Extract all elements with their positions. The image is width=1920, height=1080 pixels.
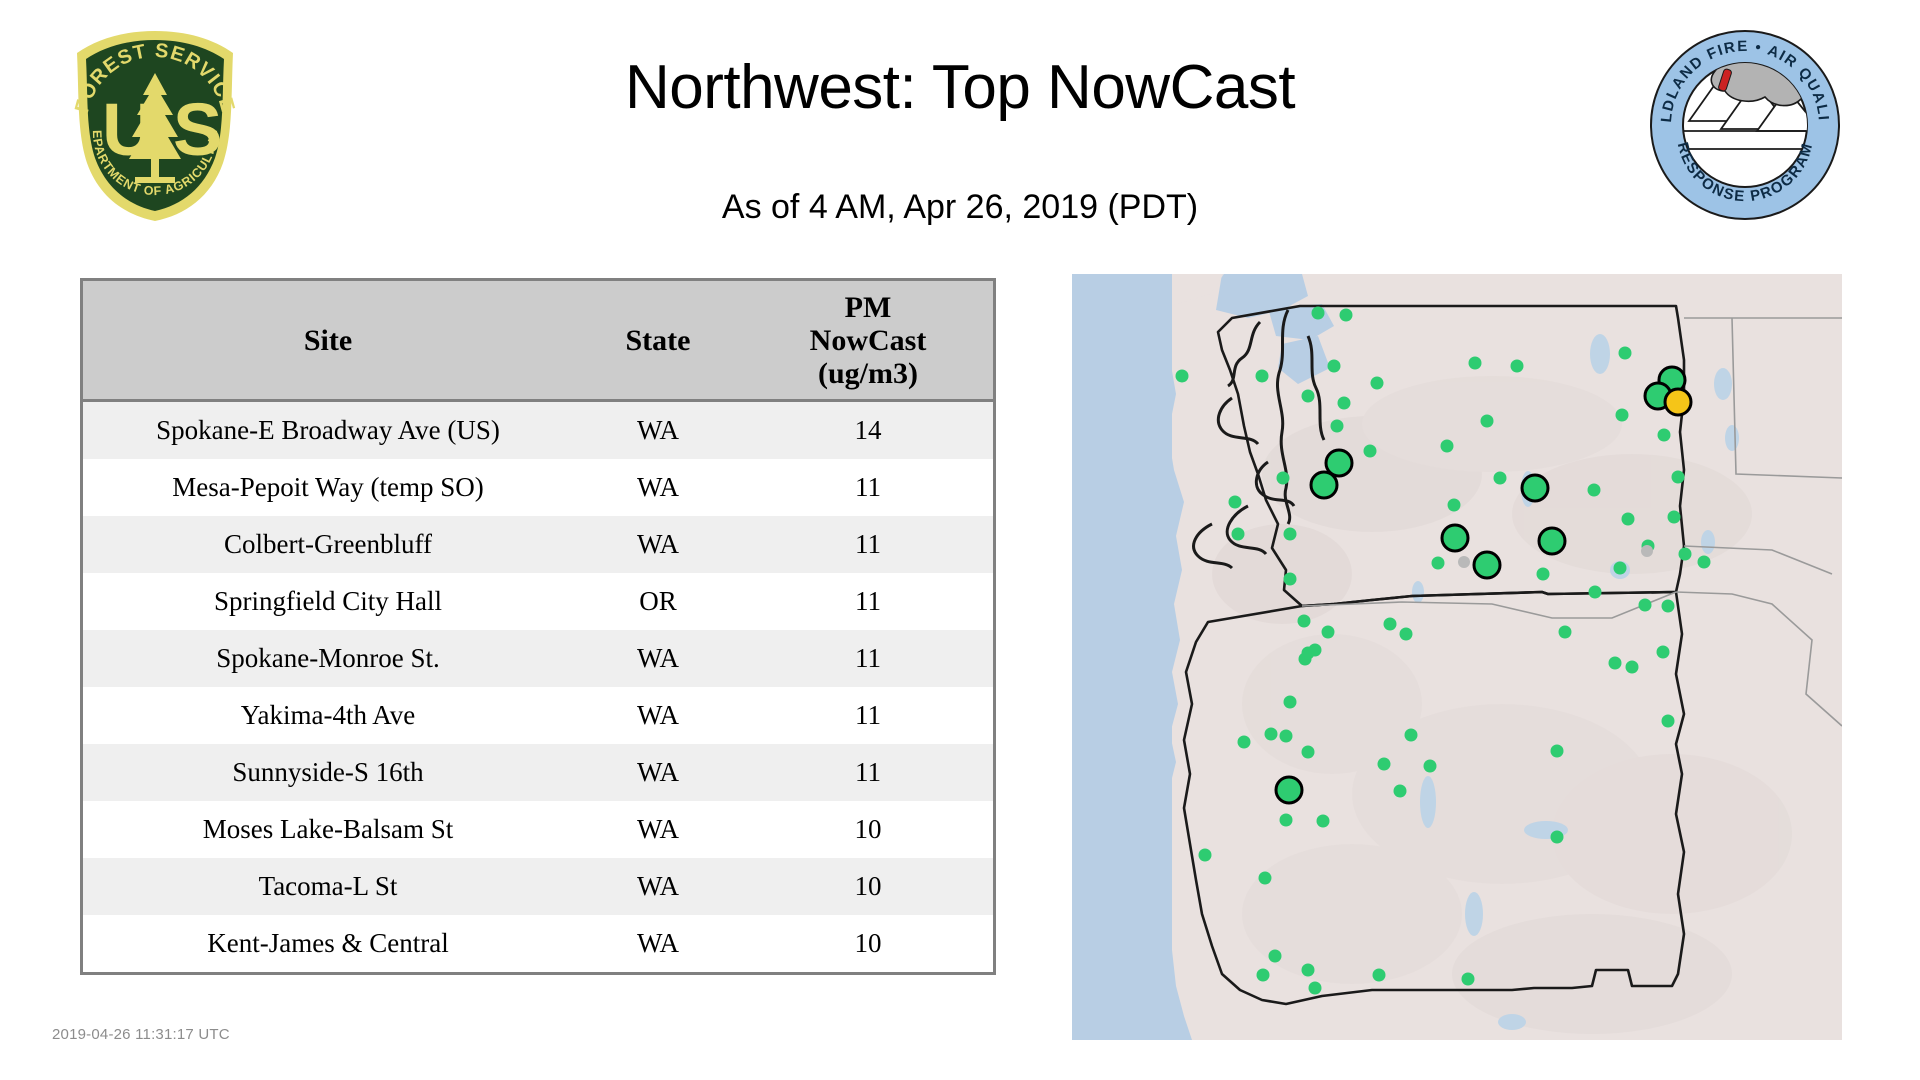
monitor-marker-small[interactable] — [1317, 815, 1330, 828]
pm-cell: 11 — [743, 744, 993, 801]
monitor-marker-small[interactable] — [1302, 964, 1315, 977]
table-row[interactable]: Mesa-Pepoit Way (temp SO)WA11 — [83, 459, 993, 516]
column-header-pm-line1: PM — [743, 291, 993, 324]
monitor-marker-small[interactable] — [1400, 628, 1413, 641]
monitor-marker-small[interactable] — [1373, 969, 1386, 982]
state-cell: WA — [573, 744, 743, 801]
site-cell: Sunnyside-S 16th — [83, 744, 573, 801]
site-cell: Springfield City Hall — [83, 573, 573, 630]
monitor-marker-small[interactable] — [1378, 758, 1391, 771]
monitor-marker-small[interactable] — [1481, 415, 1494, 428]
monitor-marker-small[interactable] — [1494, 472, 1507, 485]
monitor-marker-small[interactable] — [1394, 785, 1407, 798]
monitor-marker-small[interactable] — [1340, 309, 1353, 322]
monitor-marker-small[interactable] — [1609, 657, 1622, 670]
monitor-marker-small[interactable] — [1284, 528, 1297, 541]
pm-cell: 11 — [743, 687, 993, 744]
table-header-row: Site State PM NowCast (ug/m3) — [83, 281, 993, 401]
table-row[interactable]: Colbert-GreenbluffWA11 — [83, 516, 993, 573]
table-row[interactable]: Springfield City HallOR11 — [83, 573, 993, 630]
monitor-marker-small[interactable] — [1537, 568, 1550, 581]
site-cell: Mesa-Pepoit Way (temp SO) — [83, 459, 573, 516]
monitor-marker-small[interactable] — [1679, 548, 1692, 561]
monitor-marker-small[interactable] — [1658, 429, 1671, 442]
monitor-marker-highlighted[interactable]: Sunnyside-S 16th — [1474, 552, 1500, 578]
monitor-marker-highlighted[interactable]: Yakima-4th Ave — [1442, 525, 1468, 551]
monitor-marker-highlighted[interactable]: Mesa-Pepoit Way (temp SO) — [1539, 528, 1565, 554]
monitor-marker-small[interactable] — [1662, 600, 1675, 613]
table-header: Site State PM NowCast (ug/m3) — [83, 281, 993, 401]
pacific-ocean — [1072, 274, 1172, 1040]
table-row[interactable]: Spokane-Monroe St.WA11 — [83, 630, 993, 687]
nowcast-table-container: Site State PM NowCast (ug/m3) Spokane-E … — [80, 278, 996, 975]
monitor-marker-small[interactable] — [1229, 496, 1242, 509]
monitor-marker-small[interactable] — [1559, 626, 1572, 639]
table-row[interactable]: Tacoma-L StWA10 — [83, 858, 993, 915]
pm-cell: 10 — [743, 801, 993, 858]
monitor-marker-small[interactable] — [1265, 728, 1278, 741]
monitor-marker-small[interactable] — [1298, 615, 1311, 628]
monitor-marker-small[interactable] — [1698, 556, 1711, 569]
monitor-marker-small[interactable] — [1441, 440, 1454, 453]
monitor-marker-small[interactable] — [1284, 573, 1297, 586]
site-cell: Moses Lake-Balsam St — [83, 801, 573, 858]
site-cell: Tacoma-L St — [83, 858, 573, 915]
monitor-marker-small[interactable] — [1199, 849, 1212, 862]
site-cell: Spokane-E Broadway Ave (US) — [83, 401, 573, 460]
pm-cell: 11 — [743, 459, 993, 516]
monitor-marker-small[interactable] — [1588, 484, 1601, 497]
wfaqrp-circle-logo: WILDLAND FIRE • AIR QUALITY RESPONSE PRO… — [1645, 25, 1845, 225]
table-row[interactable]: Yakima-4th AveWA11 — [83, 687, 993, 744]
pm-cell: 10 — [743, 858, 993, 915]
monitor-marker-small[interactable] — [1672, 471, 1685, 484]
monitor-marker-small[interactable] — [1614, 562, 1627, 575]
monitor-marker-highlighted[interactable]: Kent-James & Central — [1311, 472, 1337, 498]
monitor-marker-small[interactable] — [1256, 370, 1269, 383]
monitor-marker-small[interactable] — [1405, 729, 1418, 742]
column-header-pm-line2: NowCast — [743, 324, 993, 357]
page-subtitle: As of 4 AM, Apr 26, 2019 (PDT) — [380, 188, 1540, 227]
monitor-marker-small[interactable] — [1616, 409, 1629, 422]
map-svg: Spokane-E Broadway Ave (US)Colbert-Green… — [1072, 274, 1842, 1040]
monitor-marker-small[interactable] — [1364, 445, 1377, 458]
site-cell: Yakima-4th Ave — [83, 687, 573, 744]
table-body: Spokane-E Broadway Ave (US)WA14Mesa-Pepo… — [83, 401, 993, 973]
monitor-marker-small[interactable] — [1232, 528, 1245, 541]
monitor-marker-small[interactable] — [1302, 746, 1315, 759]
monitor-marker-small[interactable] — [1259, 872, 1272, 885]
monitor-marker-small[interactable] — [1657, 646, 1670, 659]
monitor-marker-small[interactable] — [1328, 360, 1341, 373]
pm-cell: 14 — [743, 401, 993, 460]
pm-cell: 11 — [743, 573, 993, 630]
monitor-marker-small[interactable] — [1269, 950, 1282, 963]
table-row[interactable]: Kent-James & CentralWA10 — [83, 915, 993, 972]
site-cell: Spokane-Monroe St. — [83, 630, 573, 687]
monitor-marker-small[interactable] — [1511, 360, 1524, 373]
site-cell: Kent-James & Central — [83, 915, 573, 972]
monitor-marker-small[interactable] — [1384, 618, 1397, 631]
state-cell: WA — [573, 858, 743, 915]
nowcast-table: Site State PM NowCast (ug/m3) Spokane-E … — [83, 281, 993, 972]
monitor-marker-small[interactable] — [1462, 973, 1475, 986]
usfs-shield-logo: FOREST SERVICE DEPARTMENT OF AGRICULTURE… — [55, 25, 255, 225]
state-cell: WA — [573, 915, 743, 972]
northwest-monitor-map[interactable]: Spokane-E Broadway Ave (US)Colbert-Green… — [1072, 274, 1842, 1040]
monitor-marker-offline[interactable] — [1641, 545, 1653, 557]
monitor-marker-small[interactable] — [1448, 499, 1461, 512]
state-cell: WA — [573, 516, 743, 573]
monitor-marker-small[interactable] — [1280, 730, 1293, 743]
monitor-marker-small[interactable] — [1257, 969, 1270, 982]
monitor-marker-small[interactable] — [1238, 736, 1251, 749]
table-row[interactable]: Sunnyside-S 16thWA11 — [83, 744, 993, 801]
monitor-marker-small[interactable] — [1280, 814, 1293, 827]
monitor-marker-small[interactable] — [1331, 420, 1344, 433]
monitor-marker-highlighted[interactable]: Springfield City Hall — [1276, 777, 1302, 803]
monitor-marker-offline[interactable] — [1458, 556, 1470, 568]
pm-cell: 11 — [743, 516, 993, 573]
monitor-marker-small[interactable] — [1284, 696, 1297, 709]
monitor-marker-small[interactable] — [1302, 647, 1315, 660]
monitor-marker-small[interactable] — [1589, 586, 1602, 599]
monitor-marker-small[interactable] — [1371, 377, 1384, 390]
monitor-marker-small[interactable] — [1322, 626, 1335, 639]
column-header-pm-nowcast[interactable]: PM NowCast (ug/m3) — [743, 281, 993, 401]
monitor-marker-small[interactable] — [1622, 513, 1635, 526]
monitor-marker-small[interactable] — [1668, 511, 1681, 524]
pm-cell: 10 — [743, 915, 993, 972]
monitor-marker-small[interactable] — [1176, 370, 1189, 383]
monitor-marker-small[interactable] — [1309, 982, 1322, 995]
column-header-pm-line3: (ug/m3) — [743, 357, 993, 390]
monitor-marker-highlighted[interactable]: Moses Lake-Balsam St — [1522, 475, 1548, 501]
column-header-state[interactable]: State — [573, 281, 743, 401]
site-cell: Colbert-Greenbluff — [83, 516, 573, 573]
state-cell: WA — [573, 401, 743, 460]
monitor-marker-small[interactable] — [1639, 599, 1652, 612]
table-row[interactable]: Moses Lake-Balsam StWA10 — [83, 801, 993, 858]
monitor-marker-highlighted[interactable]: Spokane-Monroe St. — [1665, 389, 1691, 415]
monitor-marker-small[interactable] — [1551, 745, 1564, 758]
pm-cell: 11 — [743, 630, 993, 687]
state-cell: OR — [573, 573, 743, 630]
monitor-marker-small[interactable] — [1469, 357, 1482, 370]
monitor-marker-small[interactable] — [1432, 557, 1445, 570]
table-row[interactable]: Spokane-E Broadway Ave (US)WA14 — [83, 401, 993, 460]
state-cell: WA — [573, 459, 743, 516]
monitor-marker-small[interactable] — [1312, 307, 1325, 320]
monitor-marker-small[interactable] — [1626, 661, 1639, 674]
state-cell: WA — [573, 687, 743, 744]
column-header-site[interactable]: Site — [83, 281, 573, 401]
monitor-marker-small[interactable] — [1302, 390, 1315, 403]
state-cell: WA — [573, 630, 743, 687]
monitor-marker-small[interactable] — [1551, 831, 1564, 844]
monitor-marker-small[interactable] — [1277, 472, 1290, 485]
monitor-marker-small[interactable] — [1619, 347, 1632, 360]
monitor-marker-small[interactable] — [1338, 397, 1351, 410]
monitor-marker-small[interactable] — [1424, 760, 1437, 773]
generation-timestamp: 2019-04-26 11:31:17 UTC — [52, 1026, 230, 1043]
page-header: FOREST SERVICE DEPARTMENT OF AGRICULTURE… — [0, 0, 1920, 260]
page-title: Northwest: Top NowCast — [380, 55, 1540, 120]
monitor-marker-small[interactable] — [1662, 715, 1675, 728]
state-cell: WA — [573, 801, 743, 858]
